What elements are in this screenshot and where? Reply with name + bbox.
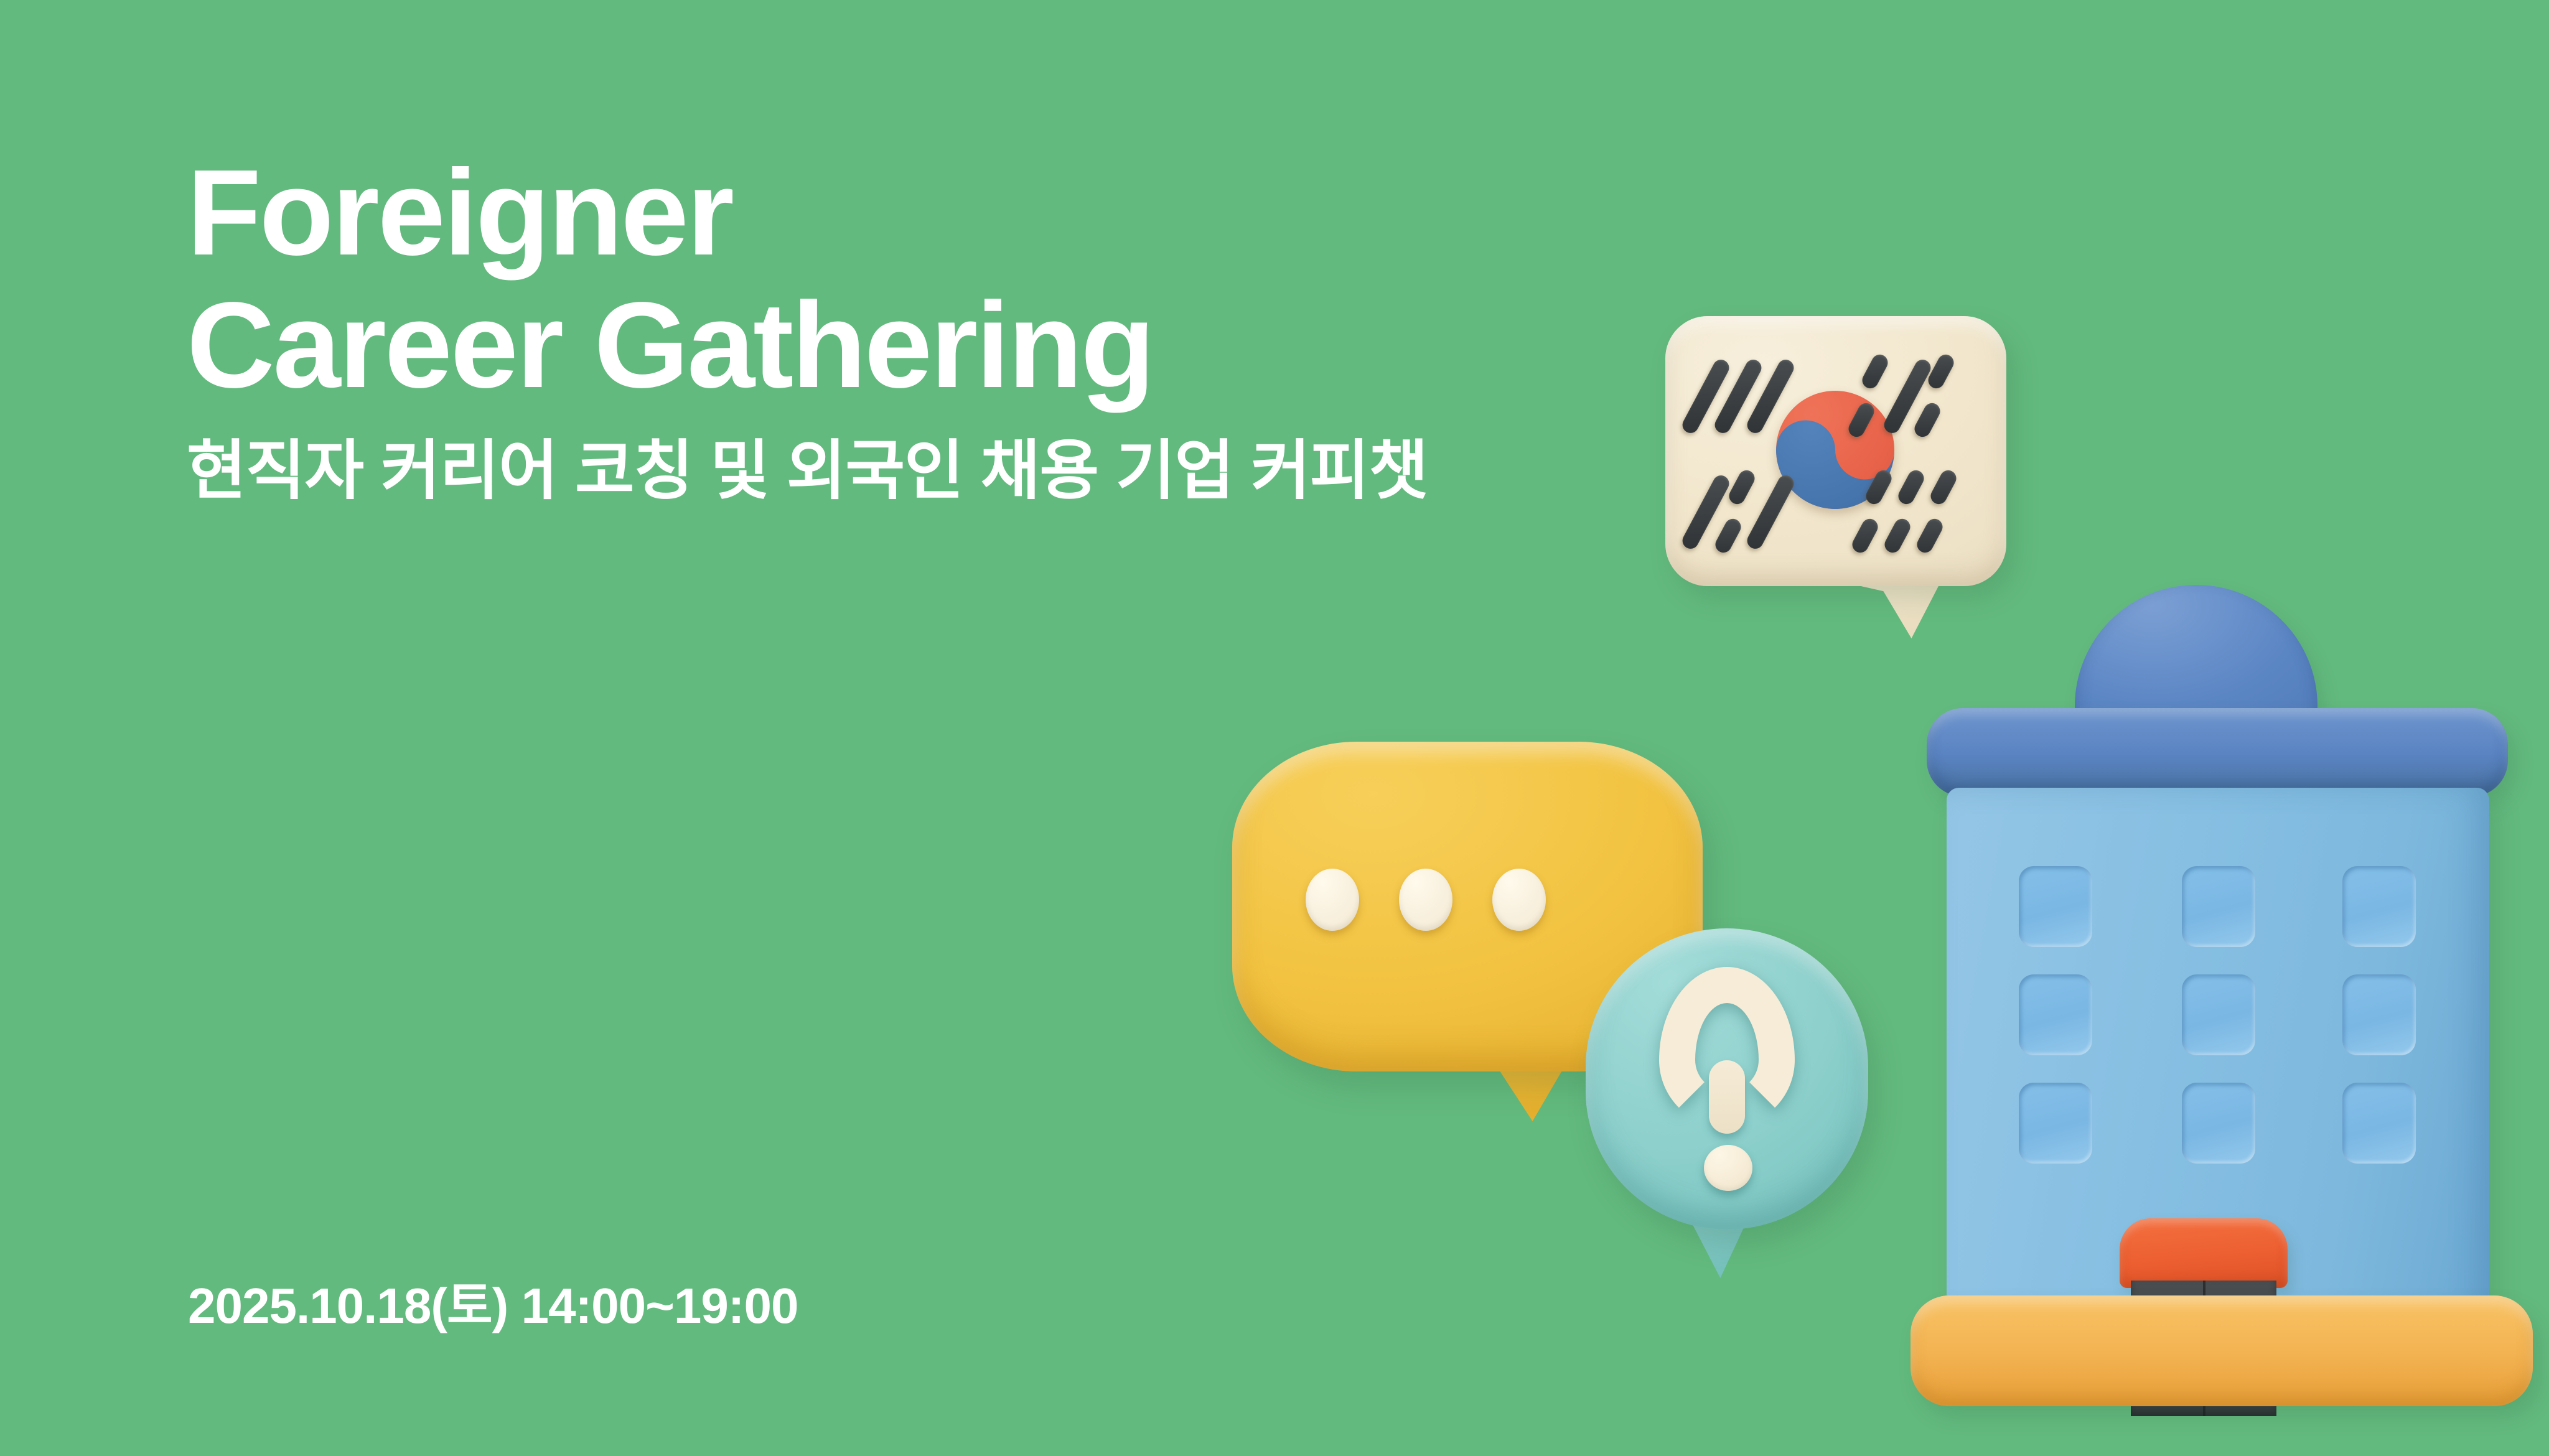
trigram-gam-icon — [1863, 352, 1975, 439]
event-poster: Foreigner Career Gathering 현직자 커리어 코칭 및 … — [0, 0, 2549, 1456]
page-title-line-2: Career Gathering — [187, 279, 1780, 412]
question-mark-glyph — [1659, 967, 1796, 1185]
korean-flag-speech-bubble-icon — [1665, 316, 2006, 586]
question-bubble-body — [1586, 928, 1868, 1230]
trigram-geon-icon — [1695, 352, 1807, 439]
typing-dot — [1492, 869, 1546, 931]
flag-bubble-body — [1665, 316, 2006, 586]
building-window — [2342, 866, 2416, 947]
poster-subtitle: 현직자 커리어 코칭 및 외국인 채용 기업 커피챗 — [187, 432, 1780, 510]
building-window — [2342, 1083, 2416, 1164]
building-window — [2019, 974, 2092, 1055]
trigram-ri-icon — [1695, 468, 1807, 555]
trigram-gon-icon — [1863, 468, 1975, 555]
building-window — [2182, 974, 2255, 1055]
building-window — [2019, 866, 2092, 947]
question-mark-dot — [1704, 1145, 1752, 1191]
building-cornice — [1927, 708, 2508, 796]
building-window — [2342, 974, 2416, 1055]
poster-text-block: Foreigner Career Gathering 현직자 커리어 코칭 및 … — [187, 147, 1780, 510]
building-window — [2182, 866, 2255, 947]
office-building-icon — [1911, 585, 2533, 1412]
question-mark-stem — [1709, 1060, 1745, 1134]
building-window — [2019, 1083, 2092, 1164]
building-window — [2182, 1083, 2255, 1164]
page-title-line-1: Foreigner — [187, 147, 1780, 279]
question-mark-speech-bubble-icon — [1586, 928, 1868, 1230]
event-datetime: 2025.10.18(토) 14:00~19:00 — [188, 1266, 798, 1338]
building-entrance-awning — [2120, 1218, 2288, 1288]
typing-dot — [1399, 869, 1452, 931]
typing-dot — [1306, 869, 1359, 931]
building-base-platform — [1911, 1295, 2533, 1406]
